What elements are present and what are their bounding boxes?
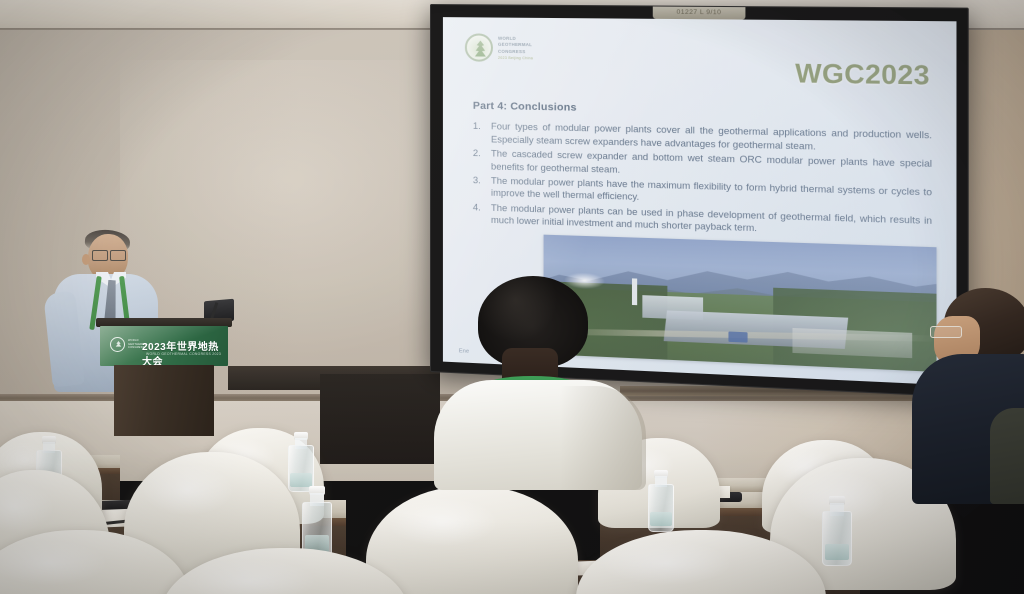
podium-logo-line-2: GEOTHERMAL [128,343,148,346]
glasses-icon [92,250,128,259]
conference-room-photo: 01227 L 9/10 WORLD GEOTHERMAL CONGRESS 2… [0,0,1024,594]
slide-bullet-list: 1. Four types of modular power plants co… [473,120,932,241]
slide-bullet-item: 4. The modular power plants can be used … [473,201,932,241]
podium-logo-text: WORLD GEOTHERMAL CONGRESS [128,339,148,349]
slide-bullet-item: 1. Four types of modular power plants co… [473,120,932,156]
wgc2023-badge: WGC2023 [795,57,930,91]
bottle-body [822,511,852,566]
glasses-icon [930,326,962,338]
audience-member-center [440,276,670,486]
bullet-text: The modular power plants have the maximu… [491,174,932,212]
photo-plant-building-main [664,310,849,348]
podium-front-panel: WORLD GEOTHERMAL CONGRESS 2023年世界地热大会 WO… [100,326,228,366]
audience-member-right [930,288,1024,498]
audience-right-second-figure [990,408,1024,504]
bullet-number: 3. [473,174,484,200]
podium-logo: WORLD GEOTHERMAL CONGRESS [110,337,148,352]
slide-title: Part 4: Conclusions [473,100,577,114]
logo-line-2: GEOTHERMAL [498,42,533,48]
bullet-text: Four types of modular power plants cover… [491,120,932,155]
bottle-body [288,445,314,492]
logo-line-3: CONGRESS [498,49,533,55]
podium: WORLD GEOTHERMAL CONGRESS 2023年世界地热大会 WO… [96,318,232,436]
geothermal-emblem-icon [465,33,493,61]
logo-line-4: 2023 Beijing China [498,55,533,60]
bottle-body [648,484,674,532]
bullet-text: The modular power plants can be used in … [491,201,932,240]
bullet-number: 4. [473,201,484,227]
dark-doorway [320,374,440,464]
podium-emblem-icon [110,337,125,352]
podium-subtitle: WORLD GEOTHERMAL CONGRESS 2023 [146,352,221,356]
bottle-label [825,544,850,560]
water-bottle-6[interactable] [822,496,852,566]
bottle-label [290,473,311,486]
slide-bullet-item: 2. The cascaded screw expander and botto… [473,147,932,184]
podium-chinese-title: 2023年世界地热大会 [142,338,228,366]
logo-text-block: WORLD GEOTHERMAL CONGRESS 2023 Beijing C… [498,35,533,60]
water-bottle-5[interactable] [302,486,332,558]
audience-center-shirt-shading [560,386,646,490]
logo-line-1: WORLD [498,35,533,41]
chair-front-center [366,486,578,594]
photo-blue-structure [728,332,747,343]
water-bottle-2[interactable] [288,432,314,492]
podium-logo-line-3: CONGRESS [128,346,148,349]
bottle-label [650,512,671,526]
photo-storage-tanks [792,328,912,358]
bullet-text: The cascaded screw expander and bottom w… [491,147,932,184]
podium-base [114,365,214,436]
photo-forest-right [773,288,936,372]
bullet-number: 1. [473,120,484,146]
slide-bullet-item: 3. The modular power plants have the max… [473,174,932,213]
wgc-logo: WORLD GEOTHERMAL CONGRESS 2023 Beijing C… [465,33,533,62]
bullet-number: 2. [473,147,484,173]
presenter-ear [82,254,90,265]
projector-overlay-tab: 01227 L 9/10 [653,5,746,19]
podium-logo-line-1: WORLD [128,339,148,342]
